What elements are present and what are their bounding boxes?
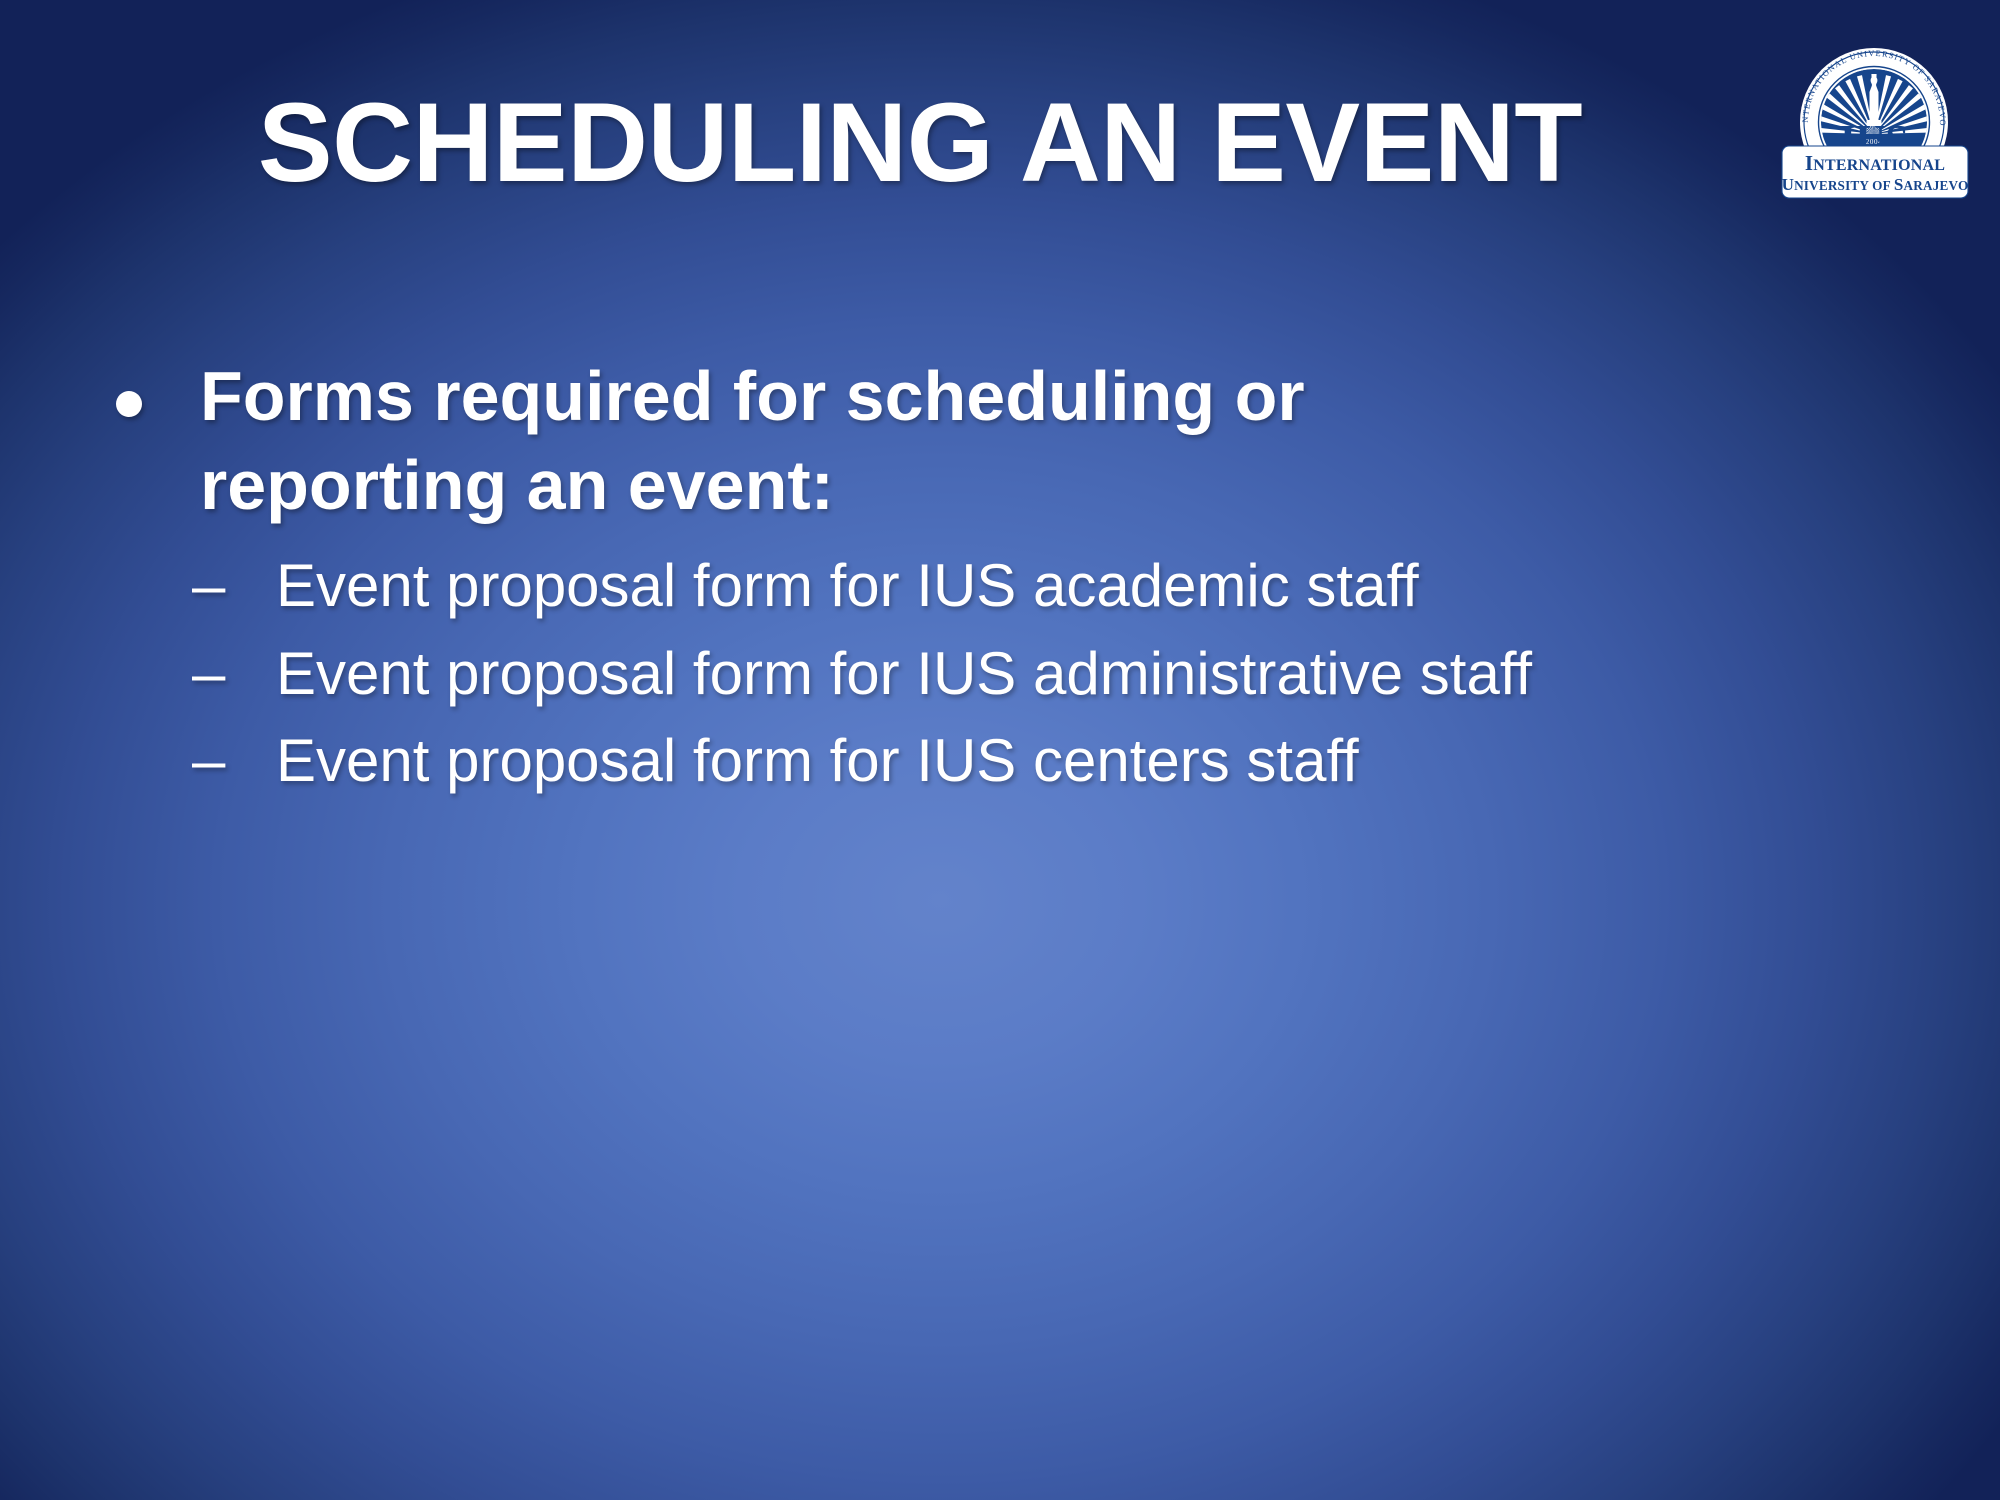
sub-bullet-text: Event proposal form for IUS centers staf…: [276, 721, 1806, 801]
list-item: Forms required for scheduling or reporti…: [96, 352, 1896, 530]
dash-marker-icon: –: [96, 546, 276, 626]
bullet-dot-icon: [96, 352, 200, 444]
list-item: – Event proposal form for IUS centers st…: [96, 721, 1896, 801]
list-item: – Event proposal form for IUS administra…: [96, 634, 1896, 714]
ius-logo: INTERNATIONAL UNIVERSITY OF SARAJEVO: [1768, 18, 1980, 208]
slide-body: Forms required for scheduling or reporti…: [96, 352, 1896, 809]
list-item: – Event proposal form for IUS academic s…: [96, 546, 1896, 626]
slide-canvas: SCHEDULING AN EVENT INTERNATIONAL UNIVER…: [0, 0, 2000, 1500]
page-title: SCHEDULING AN EVENT: [90, 80, 1750, 205]
bullet-level1-text: Forms required for scheduling or reporti…: [200, 352, 1480, 530]
sub-bullet-text: Event proposal form for IUS administrati…: [276, 634, 1806, 714]
logo-banner-line2: UNIVERSITY OF SARAJEVO: [1782, 175, 1969, 194]
dash-marker-icon: –: [96, 634, 276, 714]
sub-bullet-text: Event proposal form for IUS academic sta…: [276, 546, 1806, 626]
sub-bullet-list: – Event proposal form for IUS academic s…: [96, 546, 1896, 801]
dash-marker-icon: –: [96, 721, 276, 801]
